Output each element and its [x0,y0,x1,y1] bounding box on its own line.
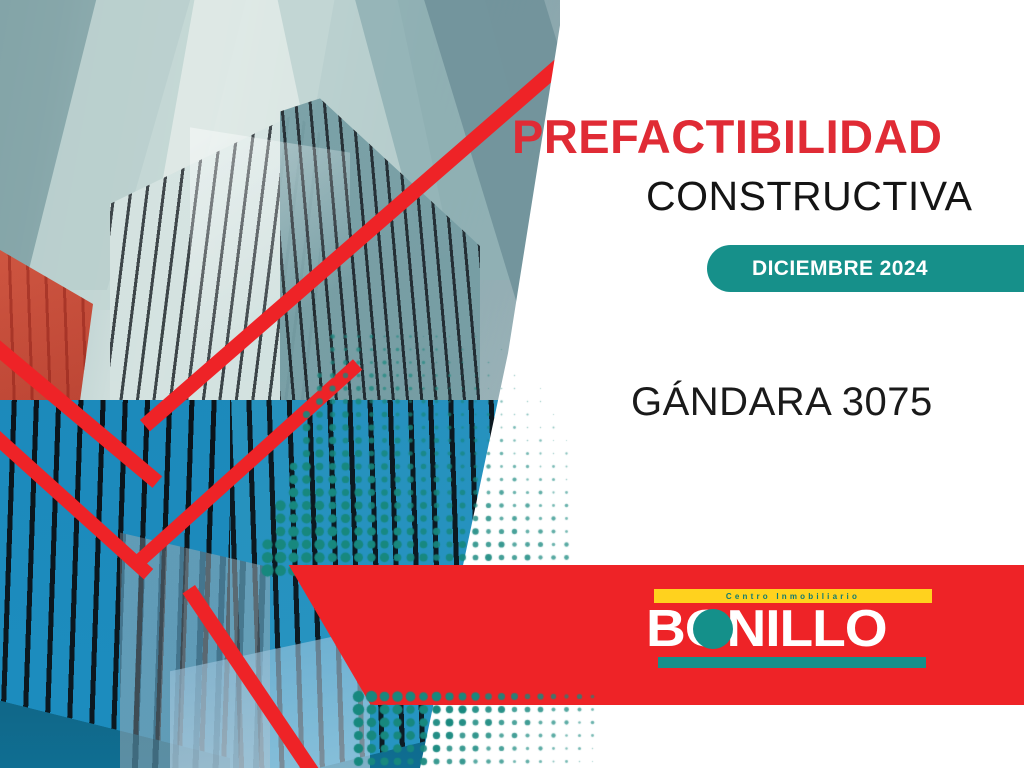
halftone-dot-pattern-lower [352,690,602,768]
page-title-secondary: CONSTRUCTIVA [646,176,972,217]
logo-wordmark: BONILLO [646,603,940,654]
halftone-dot-pattern-main [248,330,578,580]
logo-underline-bar [658,657,926,668]
date-badge-label: DICIEMBRE 2024 [752,257,928,281]
project-address: GÁNDARA 3075 [631,382,933,422]
date-badge: DICIEMBRE 2024 [707,245,1024,292]
bonillo-logo: Centro Inmobiliario BONILLO [646,589,940,671]
logo-wordmark-text: BONILLO [646,603,887,655]
presentation-slide: PREFACTIBILIDAD CONSTRUCTIVA DICIEMBRE 2… [0,0,1024,768]
logo-o-circle-icon [693,609,733,649]
page-title-primary: PREFACTIBILIDAD [512,113,943,160]
